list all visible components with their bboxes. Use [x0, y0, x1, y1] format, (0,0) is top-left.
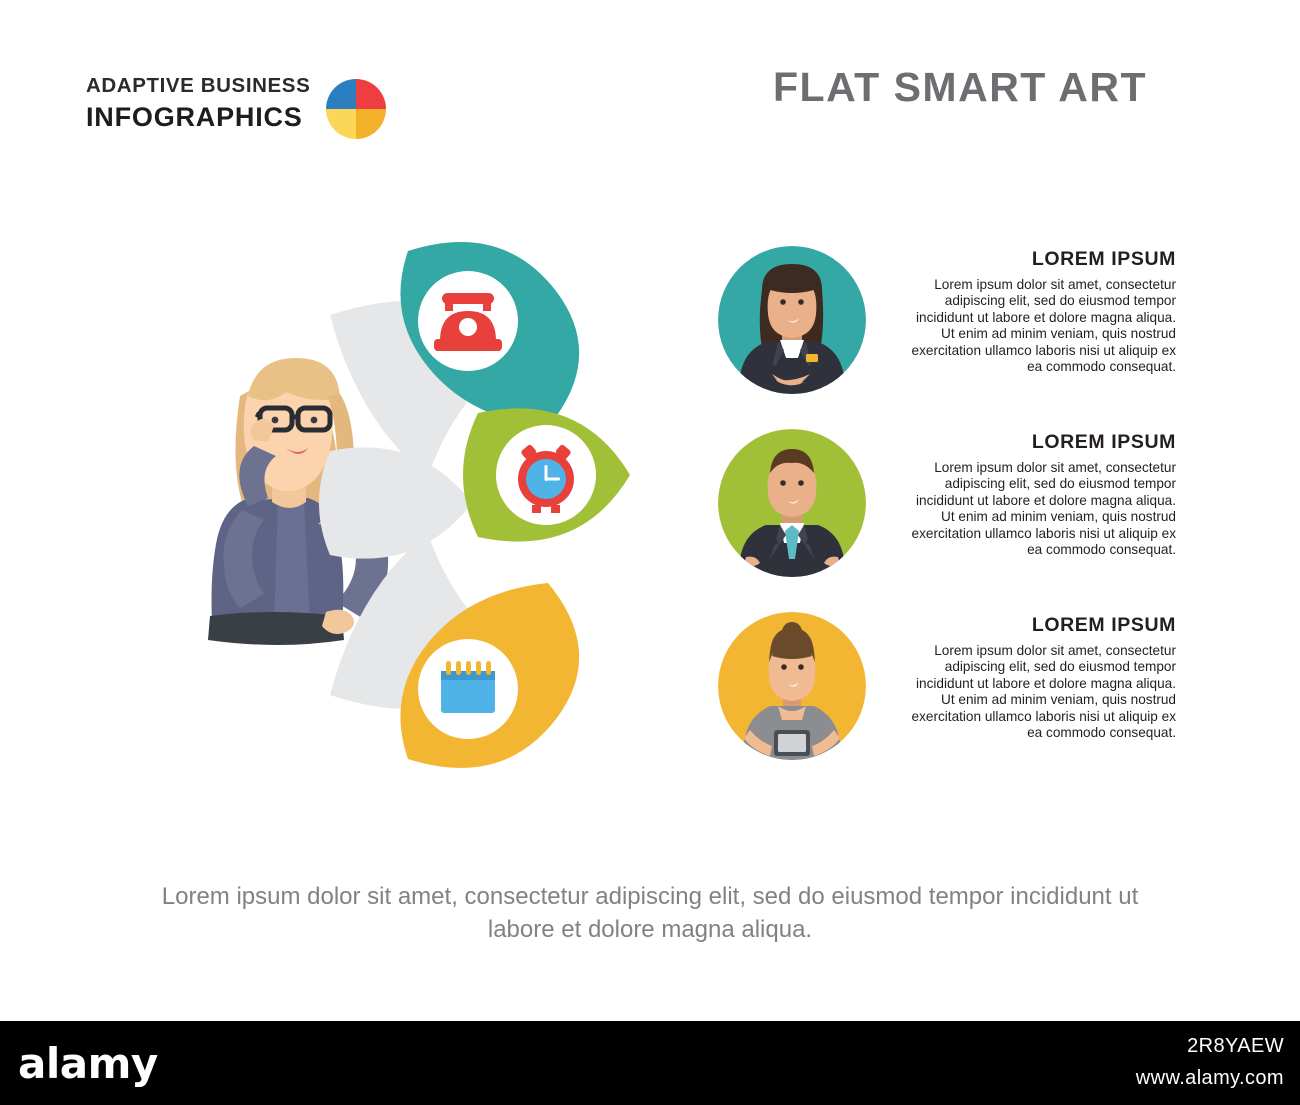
item-text: Lorem ipsum dolor sit amet, consectetur … — [904, 277, 1176, 375]
item-body: LOREM IPSUM Lorem ipsum dolor sit amet, … — [904, 431, 1176, 558]
brand-line-2: INFOGRAPHICS — [86, 102, 303, 133]
woman-with-tablet-avatar-icon — [718, 612, 866, 760]
brand-line-1: ADAPTIVE BUSINESS — [86, 74, 310, 98]
item-text: Lorem ipsum dolor sit amet, consectetur … — [904, 643, 1176, 741]
item-body: LOREM IPSUM Lorem ipsum dolor sit amet, … — [904, 248, 1176, 375]
list-item[interactable]: LOREM IPSUM Lorem ipsum dolor sit amet, … — [718, 612, 1180, 772]
slide-caption: Lorem ipsum dolor sit amet, consectetur … — [150, 880, 1150, 946]
pie-chart-logo-icon — [324, 77, 388, 141]
item-text: Lorem ipsum dolor sit amet, consectetur … — [904, 460, 1176, 558]
item-title: LOREM IPSUM — [904, 614, 1176, 637]
businesswoman-avatar-icon — [718, 246, 866, 394]
watermark-bar: alamy 2R8YAEW www.alamy.com — [0, 1021, 1300, 1105]
image-id: 2R8YAEW — [1187, 1035, 1284, 1058]
list-item[interactable]: LOREM IPSUM Lorem ipsum dolor sit amet, … — [718, 246, 1180, 406]
alamy-url: www.alamy.com — [1136, 1067, 1284, 1090]
slide-canvas: ADAPTIVE BUSINESS INFOGRAPHICS FLAT SMAR… — [0, 0, 1300, 1021]
alamy-logo: alamy — [18, 1039, 158, 1088]
list-item[interactable]: LOREM IPSUM Lorem ipsum dolor sit amet, … — [718, 429, 1180, 589]
item-title: LOREM IPSUM — [904, 248, 1176, 271]
calendar-icon — [441, 661, 495, 713]
businessman-avatar-icon — [718, 429, 866, 577]
page-title: FLAT SMART ART — [700, 64, 1220, 111]
brand-logotype: ADAPTIVE BUSINESS INFOGRAPHICS — [86, 62, 416, 142]
item-body: LOREM IPSUM Lorem ipsum dolor sit amet, … — [904, 614, 1176, 741]
petal-diagram — [300, 215, 700, 795]
petal-middle[interactable] — [463, 408, 630, 541]
item-title: LOREM IPSUM — [904, 431, 1176, 454]
